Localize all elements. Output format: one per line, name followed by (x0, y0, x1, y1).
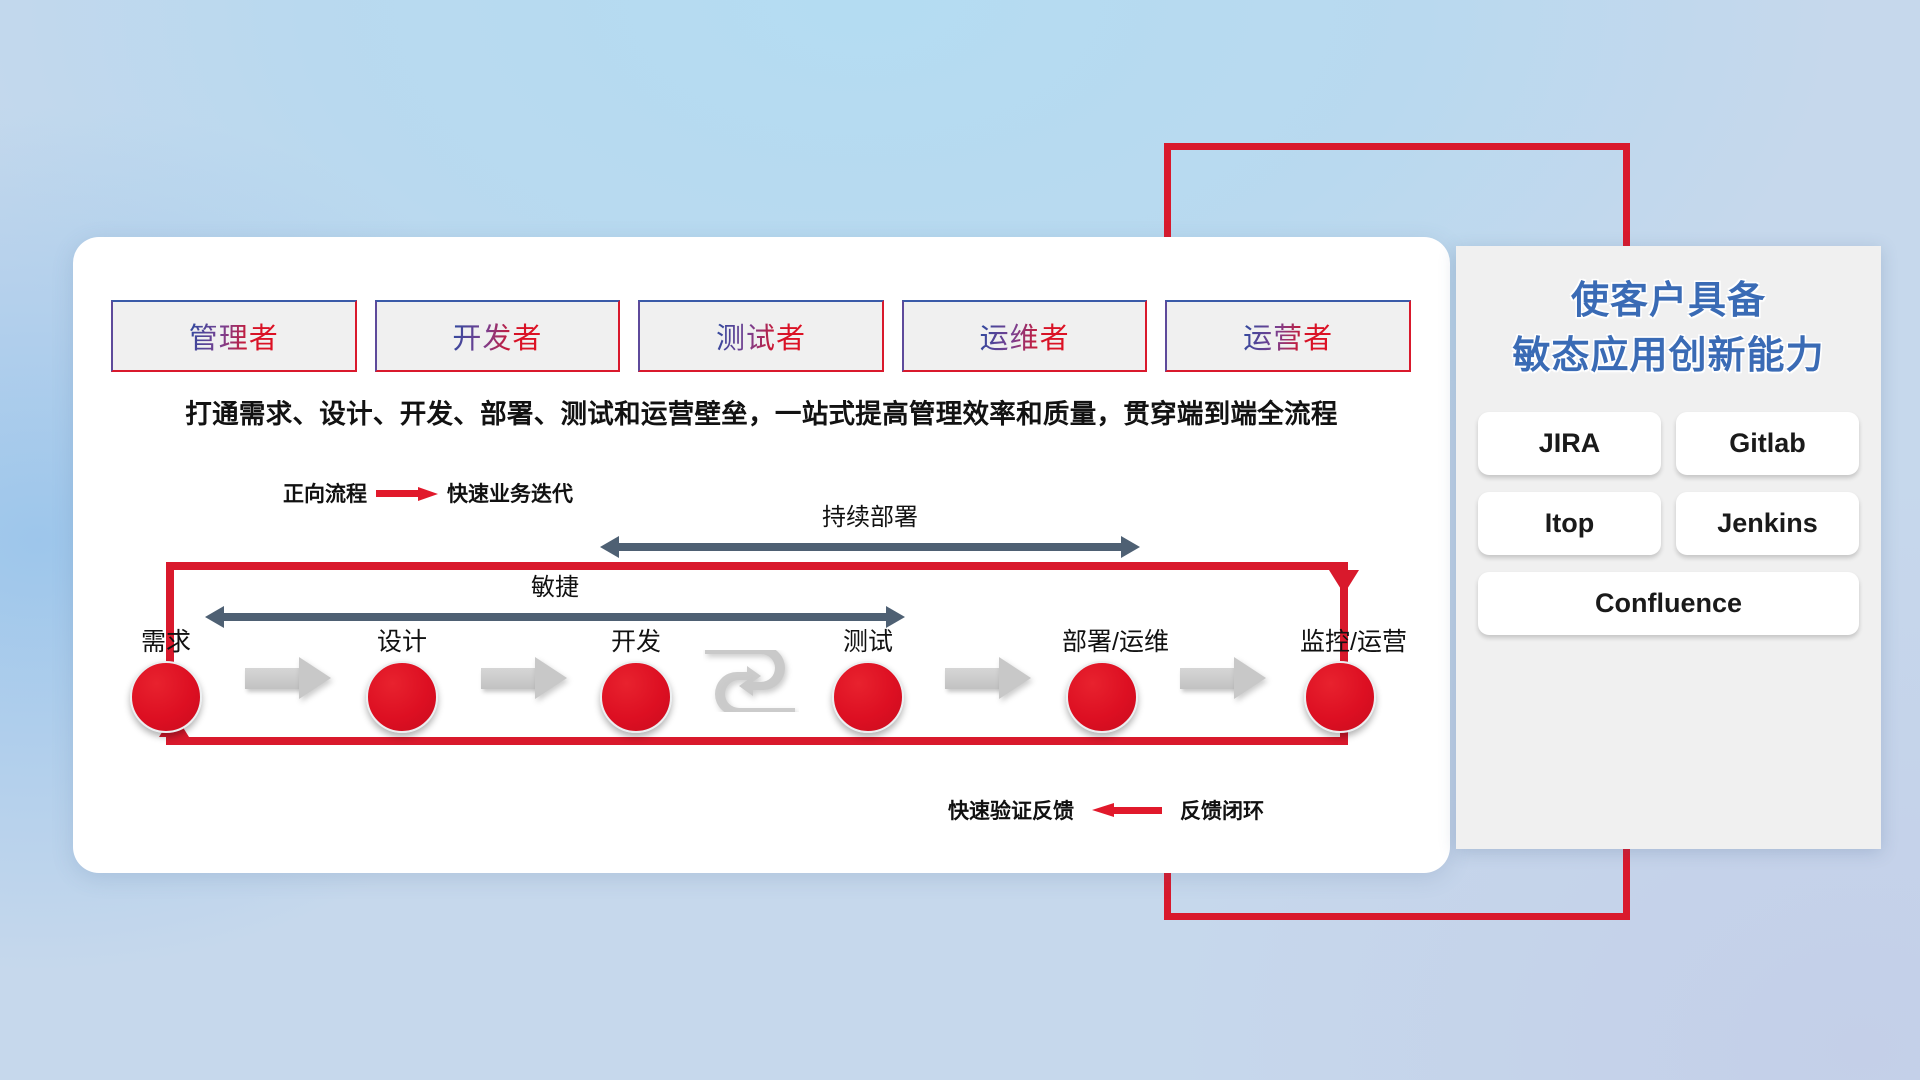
role-label: 开发者 (452, 315, 542, 357)
feedback-loop-arrowhead-down-icon (1329, 570, 1359, 594)
role-box-developer[interactable]: 开发者 (375, 300, 621, 372)
arrow-left-icon (1092, 803, 1162, 817)
role-box-manager[interactable]: 管理者 (111, 300, 357, 372)
legend-forward-right-label: 快速业务迭代 (447, 478, 573, 508)
role-box-tester[interactable]: 测试者 (638, 300, 884, 372)
panel-title-line-2: 敏态应用创新能力 (1478, 329, 1859, 384)
feedback-loop-bottom (166, 737, 1348, 745)
tool-chip-jira[interactable]: JIRA (1478, 412, 1661, 475)
role-label: 运营者 (1243, 315, 1333, 357)
legend-feedback-left-label: 快速验证反馈 (948, 795, 1074, 825)
legend-feedback-loop: 快速验证反馈 反馈闭环 (948, 795, 1264, 825)
tool-chip-gitlab[interactable]: Gitlab (1676, 412, 1859, 475)
role-box-operations[interactable]: 运营者 (1165, 300, 1411, 372)
double-arrow-icon (600, 536, 1140, 558)
role-box-row: 管理者 开发者 测试者 运维者 运营者 (111, 300, 1411, 372)
tool-chip-itop[interactable]: Itop (1478, 492, 1661, 555)
tool-chip-grid: JIRA Gitlab Itop Jenkins Confluence (1478, 412, 1859, 635)
legend-feedback-right-label: 反馈闭环 (1180, 795, 1264, 825)
tool-chip-label: Gitlab (1729, 428, 1806, 459)
span-label: 敏捷 (205, 567, 905, 602)
double-arrow-icon (205, 606, 905, 628)
tool-chip-label: Itop (1545, 508, 1594, 539)
role-label: 运维者 (980, 315, 1070, 357)
span-label: 持续部署 (600, 497, 1140, 532)
card-subtitle: 打通需求、设计、开发、部署、测试和运营壁垒，一站式提高管理效率和质量，贯穿端到端… (73, 392, 1450, 431)
role-label: 测试者 (716, 315, 806, 357)
arrow-right-icon (376, 487, 438, 500)
value-proposition-panel: 使客户具备 敏态应用创新能力 JIRA Gitlab Itop Jenkins … (1456, 246, 1881, 849)
legend-forward-flow: 正向流程 快速业务迭代 (283, 478, 573, 508)
tool-chip-confluence[interactable]: Confluence (1478, 572, 1859, 635)
span-agile: 敏捷 (205, 567, 905, 628)
role-label: 管理者 (189, 315, 279, 357)
loop-stem-monitoring (1340, 693, 1348, 741)
span-continuous-deployment: 持续部署 (600, 497, 1140, 558)
tool-chip-label: Jenkins (1717, 508, 1818, 539)
tool-chip-jenkins[interactable]: Jenkins (1676, 492, 1859, 555)
legend-forward-left-label: 正向流程 (283, 478, 367, 508)
tool-chip-label: Confluence (1595, 588, 1742, 619)
role-box-ops[interactable]: 运维者 (902, 300, 1148, 372)
feedback-loop-arrowhead-up-icon (159, 713, 189, 737)
loop-stem-demand (166, 693, 174, 719)
tool-chip-label: JIRA (1539, 428, 1601, 459)
panel-title-line-1: 使客户具备 (1478, 274, 1859, 329)
